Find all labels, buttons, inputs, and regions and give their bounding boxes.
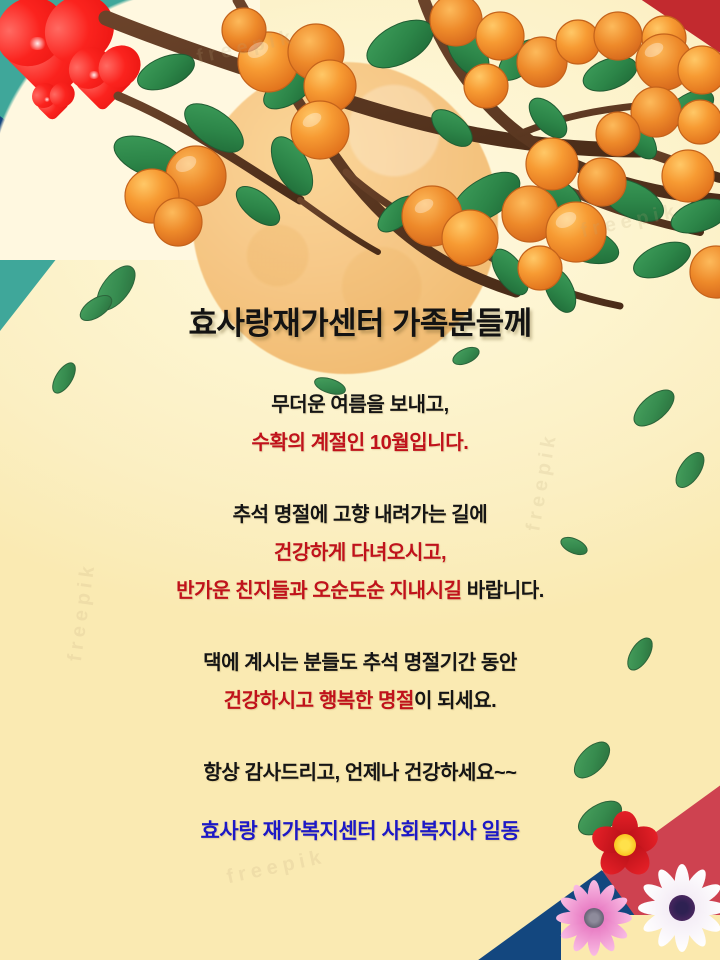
message-tail: 이 되세요.: [414, 690, 496, 712]
message-line: 항상 감사드리고, 언제나 건강하세요~~: [0, 754, 720, 792]
white-daisy-icon: [630, 856, 720, 960]
message-line: 건강하게 다녀오시고,: [0, 534, 720, 572]
message-body: 효사랑재가센터 가족분들께 무더운 여름을 보내고, 수확의 계절인 10월입니…: [0, 305, 720, 852]
stanza-4: 항상 감사드리고, 언제나 건강하세요~~: [0, 754, 720, 792]
greeting-card: freepik freepik freepik freepik freepik …: [0, 0, 720, 960]
message-tail: 바랍니다.: [462, 580, 544, 602]
stanza-2: 추석 명절에 고향 내려가는 길에 건강하게 다녀오시고, 반가운 친지들과 오…: [0, 496, 720, 610]
message-line-mixed: 반가운 친지들과 오순도순 지내시길 바랍니다.: [0, 572, 720, 610]
message-line: 추석 명절에 고향 내려가는 길에: [0, 496, 720, 534]
stanza-3: 댁에 계시는 분들도 추석 명절기간 동안 건강하시고 행복한 명절이 되세요.: [0, 644, 720, 720]
message-line-mixed: 건강하시고 행복한 명절이 되세요.: [0, 682, 720, 720]
message-line: 댁에 계시는 분들도 추석 명절기간 동안: [0, 644, 720, 682]
message-emphasis: 건강하시고 행복한 명절: [224, 690, 414, 712]
message-emphasis: 반가운 친지들과 오순도순 지내시길: [176, 580, 461, 602]
signature-line: 효사랑 재가복지센터 사회복지사 일동: [0, 812, 720, 852]
stanza-1: 무더운 여름을 보내고, 수확의 계절인 10월입니다.: [0, 386, 720, 462]
page-title: 효사랑재가센터 가족분들께: [0, 305, 720, 344]
pink-daisy-icon: [548, 872, 640, 960]
message-line: 무더운 여름을 보내고,: [0, 386, 720, 424]
message-line: 수확의 계절인 10월입니다.: [0, 424, 720, 462]
